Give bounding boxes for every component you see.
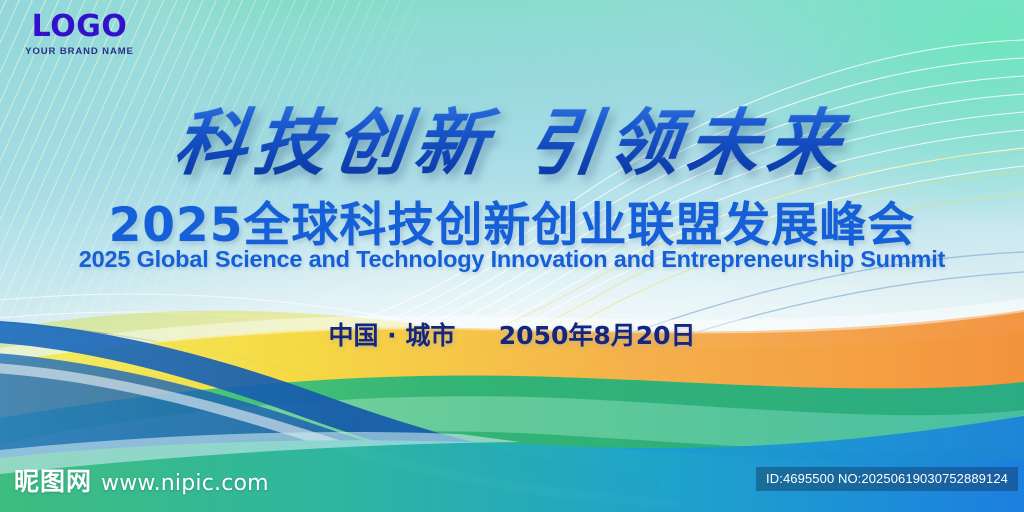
asset-id-badge: ID:4695500 NO:20250619030752889124 [756, 467, 1018, 491]
event-location: 中国 · 城市 [328, 321, 455, 350]
watermark: 昵图网 www.nipic.com [14, 462, 269, 498]
brand-logo[interactable]: LOGO YOUR BRAND NAME [17, 12, 142, 57]
event-title-chinese: 2025全球科技创新创业联盟发展峰会 [0, 186, 1024, 255]
poster-canvas: LOGO YOUR BRAND NAME 科技创新 引领未来 2025全球科技创… [0, 0, 1024, 512]
event-title-english: 2025 Global Science and Technology Innov… [0, 246, 1024, 273]
logo-wordmark: LOGO [17, 12, 142, 42]
headline-slogan: 科技创新 引领未来 [0, 84, 1024, 189]
logo-tagline: YOUR BRAND NAME [17, 47, 142, 57]
watermark-brand: 昵图网 [14, 462, 92, 498]
event-meta-line: 中国 · 城市 2050年8月20日 [0, 316, 1024, 352]
watermark-url: www.nipic.com [101, 471, 269, 496]
event-date: 2050年8月20日 [499, 321, 696, 350]
